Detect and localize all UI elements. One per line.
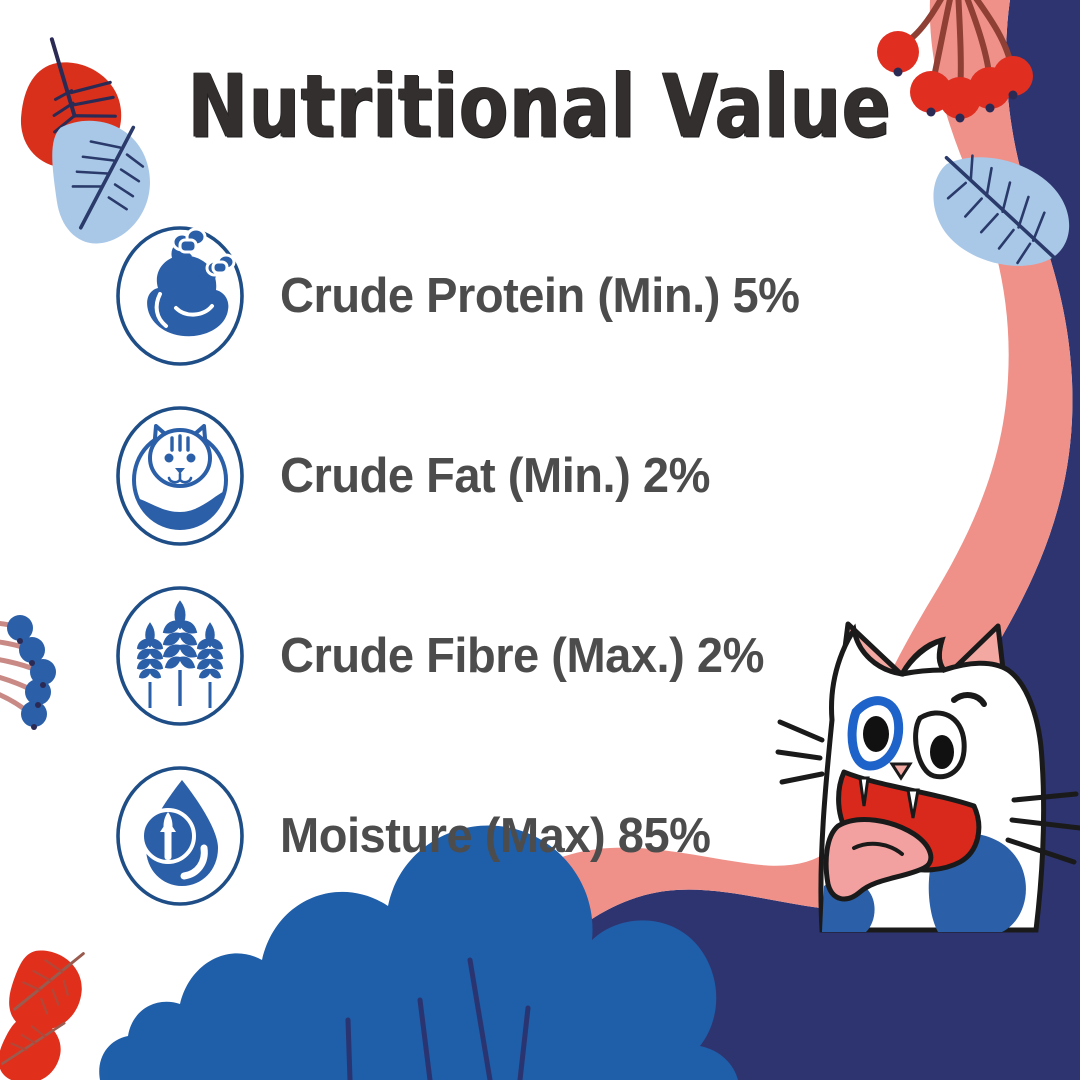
nutrient-label-crude-fibre: Crude Fibre (Max.) 2% [280,628,764,684]
nutritional-value-poster: Nutritional Value [0,0,1080,1080]
page-title: Nutritional Value [0,62,1080,140]
cat-body-icon [112,402,248,550]
nutrient-label-crude-fat: Crude Fat (Min.) 2% [280,448,710,504]
nutrient-label-crude-protein: Crude Protein (Min.) 5% [280,268,799,324]
blue-berries-left [0,615,56,730]
nutrient-label-moisture: Moisture (Max) 85% [280,808,711,864]
nutrient-row-crude-fibre: Crude Fibre (Max.) 2% [112,582,972,730]
chicken-drumstick-icon [112,222,248,370]
nutrient-row-crude-protein: Crude Protein (Min.) 5% [112,222,972,370]
wheat-stalks-icon [112,582,248,730]
red-leaf-bottom-left-lower [0,1004,73,1080]
red-leaf-bottom-left-upper [1,936,94,1042]
water-droplet-leaf-icon [112,762,248,910]
page-title-text: Nutritional Value [188,62,892,154]
nutrient-row-crude-fat: Crude Fat (Min.) 2% [112,402,972,550]
nutrient-list: Crude Protein (Min.) 5% [112,222,972,942]
nutrient-row-moisture: Moisture (Max) 85% [112,762,972,910]
